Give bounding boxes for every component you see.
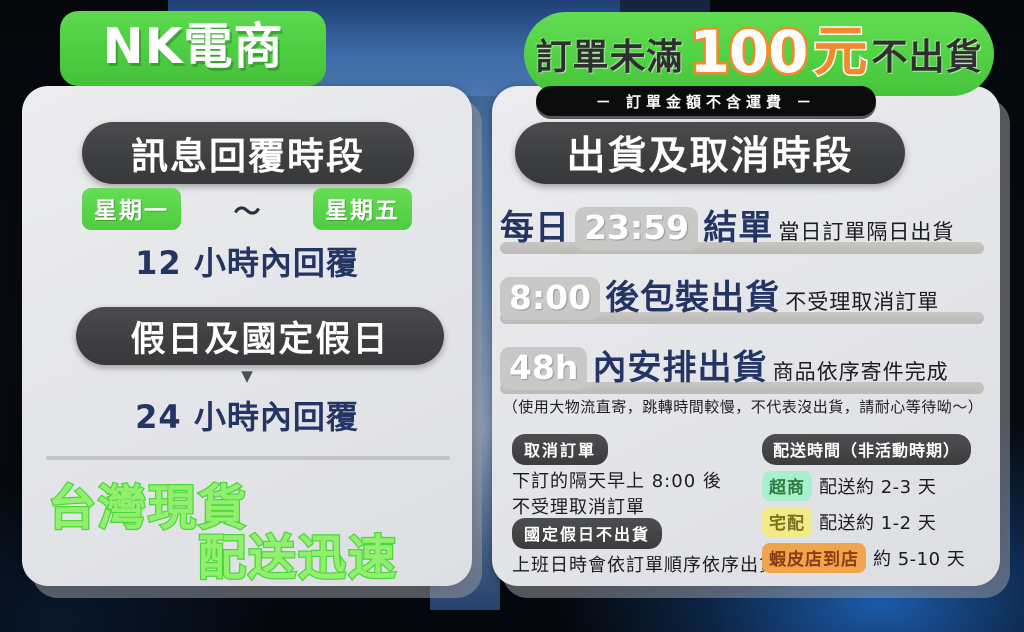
holiday-section-header-label: 假日及國定假日 xyxy=(130,311,389,362)
shipping-row: 48h 內安排出貨 商品依序寄件完成 xyxy=(500,340,949,386)
delivery-row: 蝦皮店到店 約 5-10 天 xyxy=(762,543,997,573)
holiday-reply-time-value: 24 小時內回覆 xyxy=(62,392,432,438)
delivery-method-badge: 宅配 xyxy=(762,507,812,537)
shipping-section-header-label: 出貨及取消時段 xyxy=(566,125,853,181)
delivery-method-badge: 蝦皮店到店 xyxy=(762,543,866,573)
promo-amount: 100 xyxy=(689,23,807,81)
shipping-row-lead: 每日 xyxy=(500,208,570,248)
slogan-line-2: 配送迅速 xyxy=(198,518,398,588)
shipping-row: 8:00 後包裝出貨 不受理取消訂單 xyxy=(500,270,939,316)
card-divider xyxy=(46,456,450,460)
shipping-row: 每日 23:59 結單 當日訂單隔日出貨 xyxy=(500,200,954,246)
weekday-range-row: 星期一 〜 星期五 xyxy=(82,190,412,228)
promo-suffix: 不出貨 xyxy=(872,28,983,80)
promo-prefix: 訂單未滿 xyxy=(535,28,683,80)
logistics-disclaimer: （使用大物流直寄，跳轉時間較慢，不代表沒出貨，請耐心等待呦～） xyxy=(500,396,986,417)
holiday-section-header: 假日及國定假日 xyxy=(76,307,444,365)
poster-canvas: 訊息回覆時段 星期一 〜 星期五 12 小時內回覆 假日及國定假日 ▼ 24 小… xyxy=(0,0,1024,632)
brand-logo: NK電商 xyxy=(60,11,326,86)
holiday-no-shipping-line-1: 上班日時會依訂單順序依序出貨 xyxy=(512,553,792,579)
reply-time-value: 12 小時內回覆 xyxy=(82,238,412,284)
promo-currency-unit: 元 xyxy=(814,25,868,79)
shipping-section-header: 出貨及取消時段 xyxy=(515,122,905,184)
reply-section-header-label: 訊息回覆時段 xyxy=(131,126,365,180)
weekday-end-badge: 星期五 xyxy=(313,188,412,230)
shipping-row-note: 不受理取消訂單 xyxy=(785,290,939,314)
shipping-row-tail: 內安排出貨 xyxy=(593,348,768,388)
minimum-order-banner: 訂單未滿 100 元 不出貨 xyxy=(524,12,994,96)
shipping-row-chip: 48h xyxy=(500,347,587,390)
delivery-method-badge: 超商 xyxy=(762,471,812,501)
holiday-no-shipping-block: 國定假日不出貨 上班日時會依訂單順序依序出貨 xyxy=(512,518,792,579)
shipping-row-note: 當日訂單隔日出貨 xyxy=(778,220,954,244)
reply-time-card: 訊息回覆時段 星期一 〜 星期五 12 小時內回覆 假日及國定假日 ▼ 24 小… xyxy=(22,86,472,586)
delivery-row: 宅配 配送約 1-2 天 xyxy=(762,507,997,537)
reply-section-header: 訊息回覆時段 xyxy=(82,122,414,184)
shipping-row-note: 商品依序寄件完成 xyxy=(773,360,949,384)
shipping-row-tail: 結單 xyxy=(703,208,773,248)
cancel-order-title: 取消訂單 xyxy=(512,434,608,465)
weekday-start-badge: 星期一 xyxy=(82,188,181,230)
cancel-order-block: 取消訂單 下訂的隔天早上 8:00 後 不受理取消訂單 xyxy=(512,434,762,521)
delivery-duration-text: 配送約 1-2 天 xyxy=(819,509,936,535)
cancel-order-line-1: 下訂的隔天早上 8:00 後 xyxy=(512,469,762,495)
holiday-no-shipping-title: 國定假日不出貨 xyxy=(512,518,662,549)
freight-exclusion-label: － 訂單金額不含運費 － xyxy=(596,91,816,112)
shipping-row-chip: 8:00 xyxy=(500,277,600,320)
delivery-row: 超商 配送約 2-3 天 xyxy=(762,471,997,501)
down-arrow-icon: ▼ xyxy=(22,369,472,384)
shipping-row-chip: 23:59 xyxy=(575,207,698,250)
shipping-row-tail: 後包裝出貨 xyxy=(605,278,780,318)
delivery-time-block: 配送時間（非活動時期） 超商 配送約 2-3 天 宅配 配送約 1-2 天 蝦皮… xyxy=(762,434,997,573)
brand-logo-label: NK電商 xyxy=(103,22,284,71)
delivery-duration-text: 配送約 2-3 天 xyxy=(819,473,936,499)
delivery-time-title: 配送時間（非活動時期） xyxy=(762,434,971,465)
weekday-range-tilde: 〜 xyxy=(234,190,261,229)
delivery-duration-text: 約 5-10 天 xyxy=(873,545,965,571)
freight-exclusion-pill: － 訂單金額不含運費 － xyxy=(536,86,876,116)
